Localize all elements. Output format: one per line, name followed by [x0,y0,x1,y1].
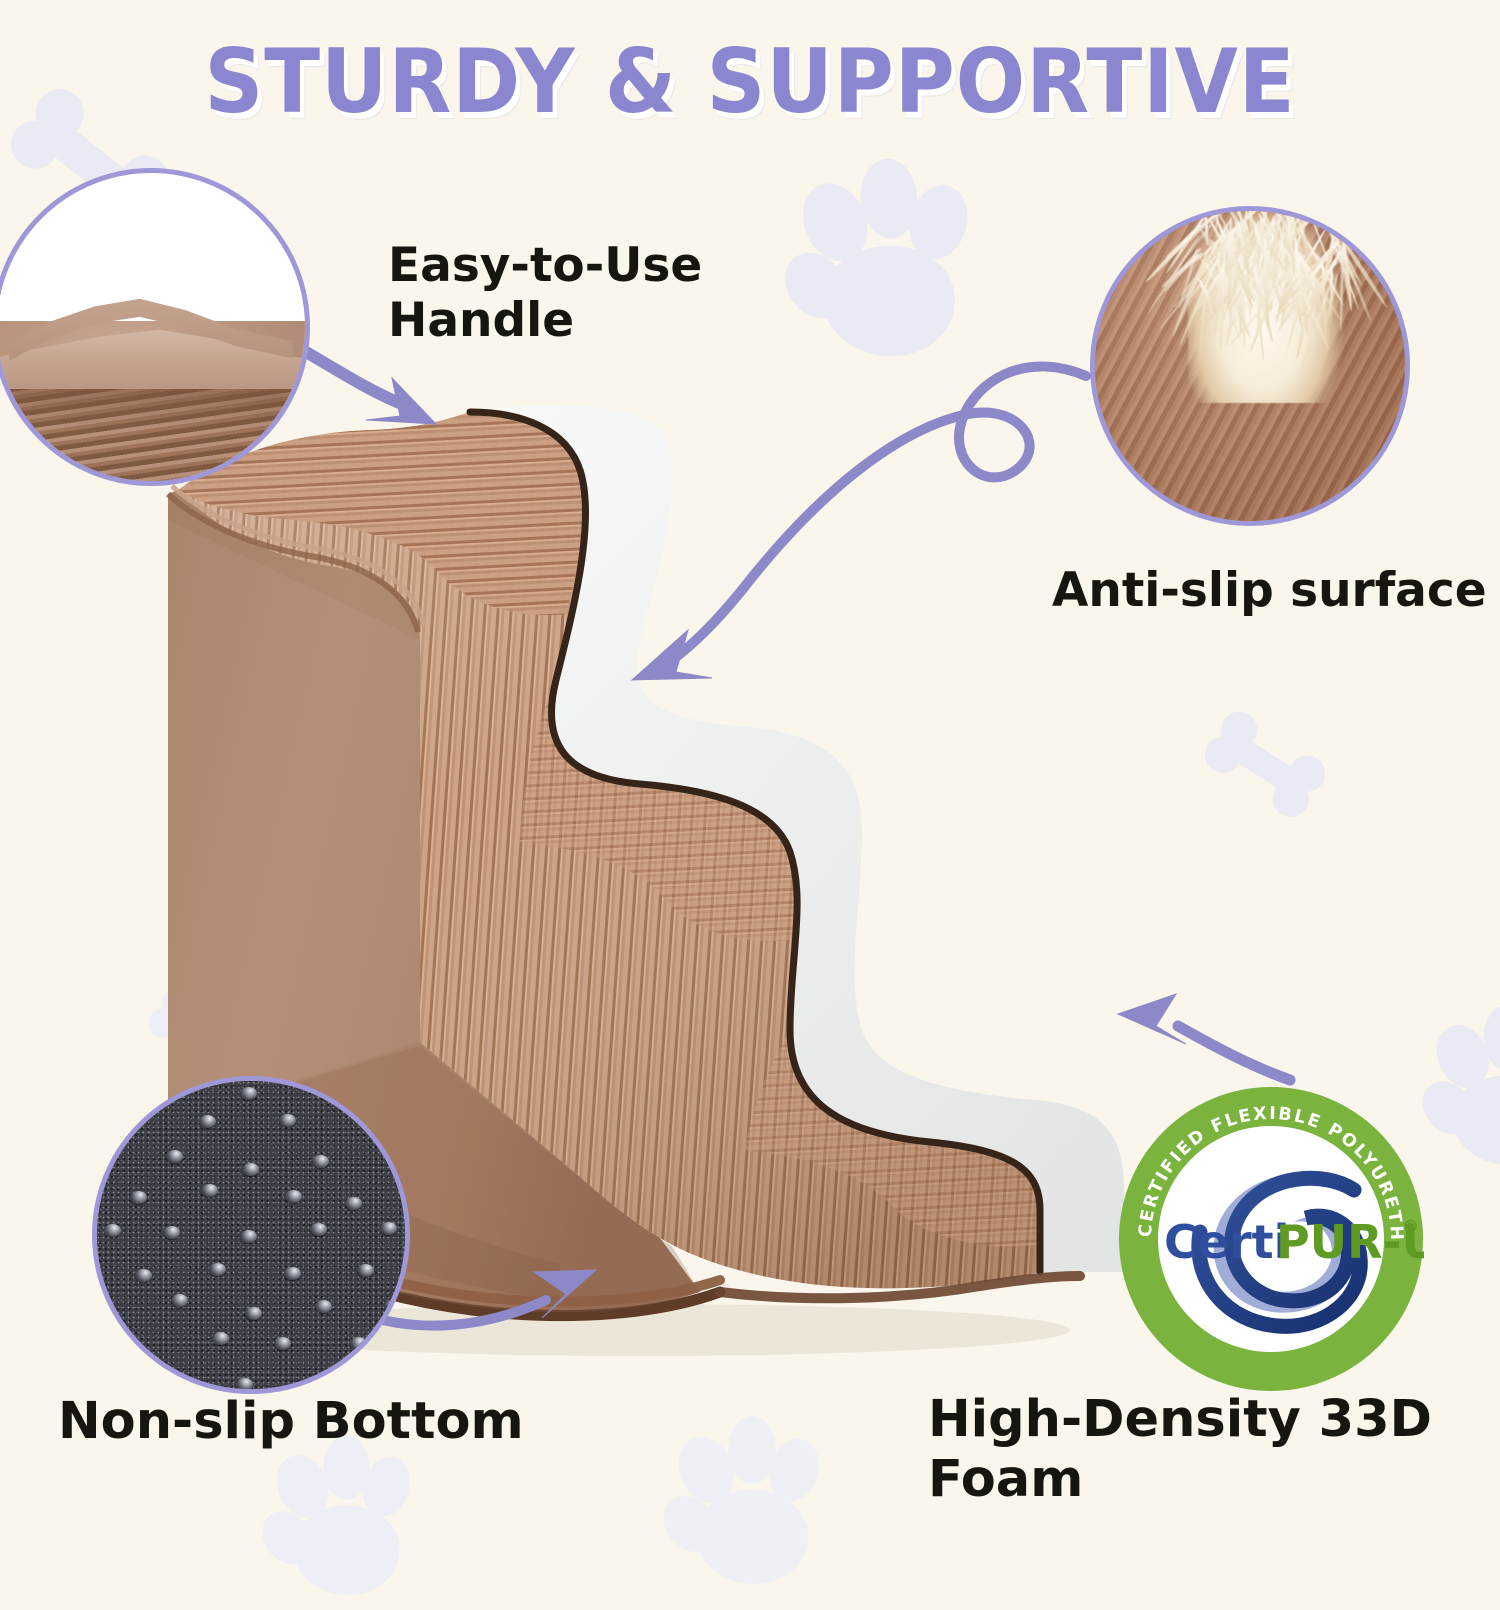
label-easy-to-use-handle: Easy-to-Use Handle [388,238,702,349]
non-slip-bottom-closeup-inset [92,1076,410,1394]
infographic-canvas: STURDY & SUPPORTIVE [0,0,1500,1500]
rubber-grip-dots [97,1081,405,1389]
badge-wordmark: Certi PUR-US ® [1164,1215,1424,1269]
svg-text:®: ® [1402,1217,1419,1237]
svg-text:Certi: Certi [1164,1215,1289,1269]
arrow-foam [1178,1026,1290,1080]
dog-paw-fur [1188,206,1349,403]
arrow-handle [296,346,402,404]
page-title: STURDY & SUPPORTIVE [53,30,1448,133]
anti-slip-closeup-inset [1090,206,1410,526]
handle-photo [0,173,305,481]
arrow-anti-slip [672,367,1086,660]
handle-closeup-inset [0,168,310,486]
label-high-density-foam: High-Density 33D Foam [928,1390,1500,1510]
label-anti-slip-surface: Anti-slip surface [1052,563,1487,618]
certipur-badge: CONTAINS CERTIFIED FLEXIBLE POLYURETHANE… [1118,1086,1424,1392]
label-non-slip-bottom: Non-slip Bottom [58,1392,524,1452]
